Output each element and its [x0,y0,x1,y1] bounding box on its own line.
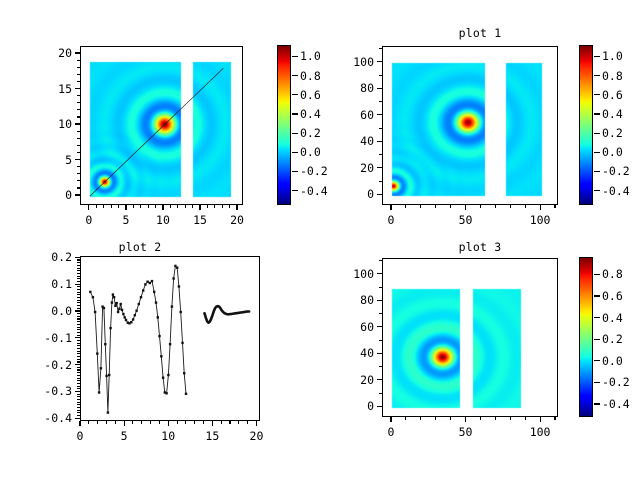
plot-2-markers [89,265,187,414]
data-point [121,309,123,311]
y-minor-tick [379,61,382,62]
y-minor-tick [77,102,80,103]
x-minor-tick [256,421,257,424]
y-minor-tick [77,391,80,392]
y-minor-tick [77,364,80,365]
x-minor-tick [148,205,149,208]
colorbar-tick-label: 0.6 [300,88,321,102]
x-minor-tick [168,421,169,424]
y-minor-tick [379,75,382,76]
y-tick-label: 0.2 [51,250,72,264]
colorbar-tick [594,152,600,153]
x-minor-tick [162,205,163,208]
y-minor-tick [77,353,80,354]
y-minor-tick [379,194,382,195]
data-point [114,305,116,307]
data-point [171,305,173,307]
colorbar-tick [292,152,298,153]
y-minor-tick [379,101,382,102]
colorbar-tick-label: 0.2 [300,126,321,140]
y-minor-tick [77,259,80,260]
y-minor-tick [77,166,80,167]
y-minor-tick [77,278,80,279]
y-tick-label: 0 [367,399,374,413]
y-minor-tick [77,313,80,314]
data-point [107,411,109,413]
y-minor-tick [77,300,80,301]
y-tick-label: -0.1 [44,331,72,345]
y-minor-tick [77,81,80,82]
y-minor-tick [379,48,382,49]
y-tick-label: 0 [65,188,72,202]
colorbar-tick-label: 0.0 [602,145,623,159]
y-minor-tick [77,380,80,381]
x-minor-tick [177,205,178,208]
y-minor-tick [77,281,80,282]
y-minor-tick [77,262,80,263]
y-minor-tick [77,351,80,352]
y-minor-tick [77,337,80,338]
y-minor-tick [77,152,80,153]
colorbar-tick-label: 1.0 [602,49,623,63]
x-tick-label: 0 [77,429,84,443]
data-point [181,342,183,344]
x-minor-tick [103,205,104,208]
y-tick-label: 10 [58,117,72,131]
data-point [151,280,153,282]
y-minor-tick [77,394,80,395]
data-point [125,319,127,321]
y-minor-tick [379,273,382,274]
data-point [142,289,144,291]
y-minor-tick [77,340,80,341]
y-tick-label: 0.1 [51,277,72,291]
data-point [160,355,162,357]
y-minor-tick [77,270,80,271]
x-minor-tick [177,421,178,424]
colorbar-tick [594,190,600,191]
x-minor-tick [185,205,186,208]
y-tick-label: 40 [360,134,374,148]
data-point [94,311,96,313]
x-minor-tick [435,205,436,208]
y-tick-label: 60 [360,108,374,122]
y-minor-tick [77,109,80,110]
colorbar-tick-label: 0.8 [602,267,623,281]
x-minor-tick [450,417,451,420]
data-point [185,393,187,395]
y-minor-tick [77,273,80,274]
colorbar-tick-label: -0.2 [602,375,630,389]
x-minor-tick [237,205,238,208]
y-minor-tick [379,326,382,327]
colorbar-tick-label: -0.4 [602,397,630,411]
data-point [135,310,137,312]
data-point [105,375,107,377]
y-tick-label: 5 [65,153,72,167]
data-point [104,343,106,345]
data-point [103,307,105,309]
y-minor-tick [77,386,80,387]
colorbar-tick [594,94,600,95]
x-minor-tick [212,421,213,424]
plot-a-colorbar [277,45,291,205]
data-point [157,316,159,318]
subplot-top-right: plot 1 050100 020406080100 -0.4-0.20.00.… [320,0,640,240]
x-minor-tick [540,417,541,420]
y-minor-tick [77,310,80,311]
y-minor-tick [379,393,382,394]
x-minor-tick [118,205,119,208]
x-minor-tick [111,205,112,208]
colorbar-tick-label: 0.0 [300,145,321,159]
y-minor-tick [77,324,80,325]
colorbar-tick [292,56,298,57]
x-tick-label: 0 [387,425,394,439]
y-minor-tick [77,308,80,309]
x-minor-tick [150,421,151,424]
x-minor-tick [214,205,215,208]
x-minor-tick [115,421,116,424]
y-minor-tick [77,276,80,277]
y-minor-tick [77,369,80,370]
plot-1-colorbar [579,45,593,205]
y-minor-tick [77,180,80,181]
data-point [138,303,140,305]
colorbar-tick-label: -0.4 [602,184,630,198]
data-point [130,321,132,323]
x-tick-label: 10 [161,429,175,443]
x-tick-label: 50 [459,213,473,227]
y-tick-label: 40 [360,346,374,360]
y-minor-tick [379,353,382,354]
colorbar-tick [594,317,600,318]
y-minor-tick [77,289,80,290]
y-tick-label: 60 [360,320,374,334]
colorbar-tick-label: 0.4 [602,311,623,325]
x-tick-label: 5 [122,213,129,227]
data-point [111,301,113,303]
data-point [153,291,155,293]
y-minor-tick [77,124,80,125]
x-minor-tick [420,205,421,208]
y-tick-label: 80 [360,81,374,95]
data-point [176,267,178,269]
y-minor-tick [77,359,80,360]
data-point [98,391,100,393]
x-minor-tick [192,205,193,208]
x-tick-label: 5 [121,429,128,443]
plot-a-overlay [81,47,243,205]
data-point [116,302,118,304]
x-minor-tick [133,205,134,208]
colorbar-tick [594,274,600,275]
data-point [172,277,174,279]
y-minor-tick [379,141,382,142]
y-minor-tick [77,399,80,400]
x-tick-label: 20 [230,213,244,227]
y-minor-tick [77,60,80,61]
y-minor-tick [77,116,80,117]
x-minor-tick [229,421,230,424]
y-minor-tick [379,260,382,261]
y-tick-label: -0.2 [44,358,72,372]
y-minor-tick [77,292,80,293]
y-tick-label: 20 [360,373,374,387]
x-minor-tick [480,417,481,420]
y-minor-tick [77,187,80,188]
x-minor-tick [207,205,208,208]
colorbar-tick-label: 0.4 [602,107,623,121]
data-point [109,327,111,329]
plot-a-axes-frame [80,46,243,205]
x-minor-tick [199,205,200,208]
x-minor-tick [125,205,126,208]
x-minor-tick [420,417,421,420]
x-tick-label: 10 [156,213,170,227]
x-minor-tick [185,421,186,424]
x-minor-tick [96,205,97,208]
x-tick-label: 50 [459,425,473,439]
data-point [146,281,148,283]
colorbar-tick-label: 0.6 [602,289,623,303]
x-minor-tick [88,421,89,424]
x-minor-tick [79,421,80,424]
colorbar-tick [292,133,298,134]
y-minor-tick [77,74,80,75]
colorbar-tick-label: 0.2 [602,332,623,346]
x-minor-tick [465,417,466,420]
y-minor-tick [379,128,382,129]
x-tick-label: 15 [205,429,219,443]
y-minor-tick [77,316,80,317]
x-minor-tick [88,205,89,208]
colorbar-tick-label: 1.0 [300,49,321,63]
data-point [158,335,160,337]
colorbar-tick [594,56,600,57]
colorbar-tick-label: 0.8 [602,69,623,83]
colorbar-tick-label: 0.8 [300,69,321,83]
data-point [108,374,110,376]
y-minor-tick [77,327,80,328]
data-point [169,343,171,345]
y-minor-tick [77,305,80,306]
y-tick-label: -0.4 [44,411,72,425]
y-minor-tick [77,410,80,411]
x-minor-tick [554,205,555,208]
x-minor-tick [140,205,141,208]
data-point [162,377,164,379]
colorbar-tick [594,171,600,172]
x-minor-tick [390,205,391,208]
colorbar-tick [292,94,298,95]
y-minor-tick [379,300,382,301]
x-minor-tick [390,417,391,420]
y-minor-tick [379,167,382,168]
y-minor-tick [77,53,80,54]
colorbar-tick [292,113,298,114]
y-minor-tick [77,302,80,303]
data-point [96,352,98,354]
x-minor-tick [170,205,171,208]
colorbar-tick [594,113,600,114]
y-minor-tick [77,286,80,287]
y-minor-tick [77,173,80,174]
x-minor-tick [405,205,406,208]
y-minor-tick [379,287,382,288]
y-minor-tick [379,366,382,367]
plot-1-axes-frame [382,46,558,205]
y-minor-tick [77,67,80,68]
plot-3-colorbar [579,257,593,417]
y-minor-tick [77,412,80,413]
x-tick-label: 100 [530,213,551,227]
y-minor-tick [77,348,80,349]
y-minor-tick [77,415,80,416]
x-tick-label: 100 [530,425,551,439]
y-minor-tick [77,375,80,376]
data-point [118,308,120,310]
subplot-top-left: 05101520 05101520 -0.4-0.20.00.20.40.60.… [0,0,320,240]
colorbar-tick [594,75,600,76]
x-minor-tick [203,421,204,424]
plot-2-axes-frame [80,256,260,421]
y-minor-tick [77,329,80,330]
y-minor-tick [77,418,80,419]
data-point [165,392,167,394]
y-minor-tick [77,318,80,319]
y-tick-label: 0 [367,187,374,201]
y-tick-label: 15 [58,82,72,96]
x-minor-tick [495,205,496,208]
y-minor-tick [77,138,80,139]
data-point [144,283,146,285]
x-minor-tick [238,421,239,424]
x-tick-label: 20 [250,429,264,443]
plot-2-lines [81,257,260,421]
y-tick-label: 80 [360,293,374,307]
colorbar-tick-label: 0.2 [602,126,623,140]
colorbar-tick-label: 0.0 [602,354,623,368]
y-tick-label: -0.3 [44,384,72,398]
data-point [180,311,182,313]
x-tick-label: 0 [387,213,394,227]
colorbar-tick [594,133,600,134]
colorbar-tick-label: 0.6 [602,88,623,102]
plot-3-axes-frame [382,258,558,417]
y-tick-label: 100 [353,55,374,69]
x-minor-tick [194,421,195,424]
y-minor-tick [77,294,80,295]
y-minor-tick [379,313,382,314]
data-point [132,318,134,320]
colorbar-tick-label: 0.4 [300,107,321,121]
data-point [124,316,126,318]
data-point [178,285,180,287]
data-point [120,303,122,305]
y-minor-tick [77,361,80,362]
x-minor-tick [155,205,156,208]
y-tick-label: 20 [58,46,72,60]
x-minor-tick [97,421,98,424]
x-minor-tick [480,205,481,208]
data-point [149,282,151,284]
data-point [100,367,102,369]
y-minor-tick [379,88,382,89]
data-point [89,291,91,293]
colorbar-tick [594,339,600,340]
x-minor-tick [141,421,142,424]
data-point [112,293,114,295]
subplot-bottom-right: plot 3 050100 020406080100 -0.4-0.20.00.… [320,240,640,480]
x-minor-tick [450,205,451,208]
colorbar-tick [594,295,600,296]
x-minor-tick [221,421,222,424]
colorbar-tick [292,190,298,191]
y-minor-tick [379,154,382,155]
y-tick-label: 100 [353,267,374,281]
y-minor-tick [77,257,80,258]
y-minor-tick [77,265,80,266]
y-minor-tick [77,343,80,344]
colorbar-tick [594,382,600,383]
y-minor-tick [77,284,80,285]
y-minor-tick [77,268,80,269]
data-point [134,314,136,316]
x-tick-label: 15 [193,213,207,227]
subplot-bottom-right-title: plot 3 [380,240,580,254]
data-point [155,301,157,303]
y-minor-tick [77,396,80,397]
y-minor-tick [77,372,80,373]
y-minor-tick [77,407,80,408]
data-point [113,296,115,298]
y-minor-tick [77,345,80,346]
data-point [92,296,94,298]
colorbar-tick [594,403,600,404]
figure-canvas: 05101520 05101520 -0.4-0.20.00.20.40.60.… [0,0,640,480]
x-minor-tick [222,205,223,208]
y-minor-tick [77,88,80,89]
y-minor-tick [77,95,80,96]
x-minor-tick [405,417,406,420]
x-minor-tick [525,417,526,420]
data-point [122,313,124,315]
y-minor-tick [379,379,382,380]
subplot-top-right-title: plot 1 [380,26,580,40]
x-minor-tick [510,205,511,208]
y-minor-tick [77,145,80,146]
y-minor-tick [77,388,80,389]
y-minor-tick [77,131,80,132]
y-minor-tick [77,159,80,160]
x-minor-tick [159,421,160,424]
y-minor-tick [77,321,80,322]
y-minor-tick [77,335,80,336]
x-minor-tick [124,421,125,424]
y-minor-tick [77,332,80,333]
y-minor-tick [379,181,382,182]
y-minor-tick [77,383,80,384]
data-point [140,296,142,298]
y-minor-tick [77,404,80,405]
plot-3-image [383,259,558,417]
y-tick-label: 20 [360,161,374,175]
data-point [167,374,169,376]
y-minor-tick [77,356,80,357]
y-minor-tick [77,367,80,368]
y-tick-label: 0.0 [51,304,72,318]
